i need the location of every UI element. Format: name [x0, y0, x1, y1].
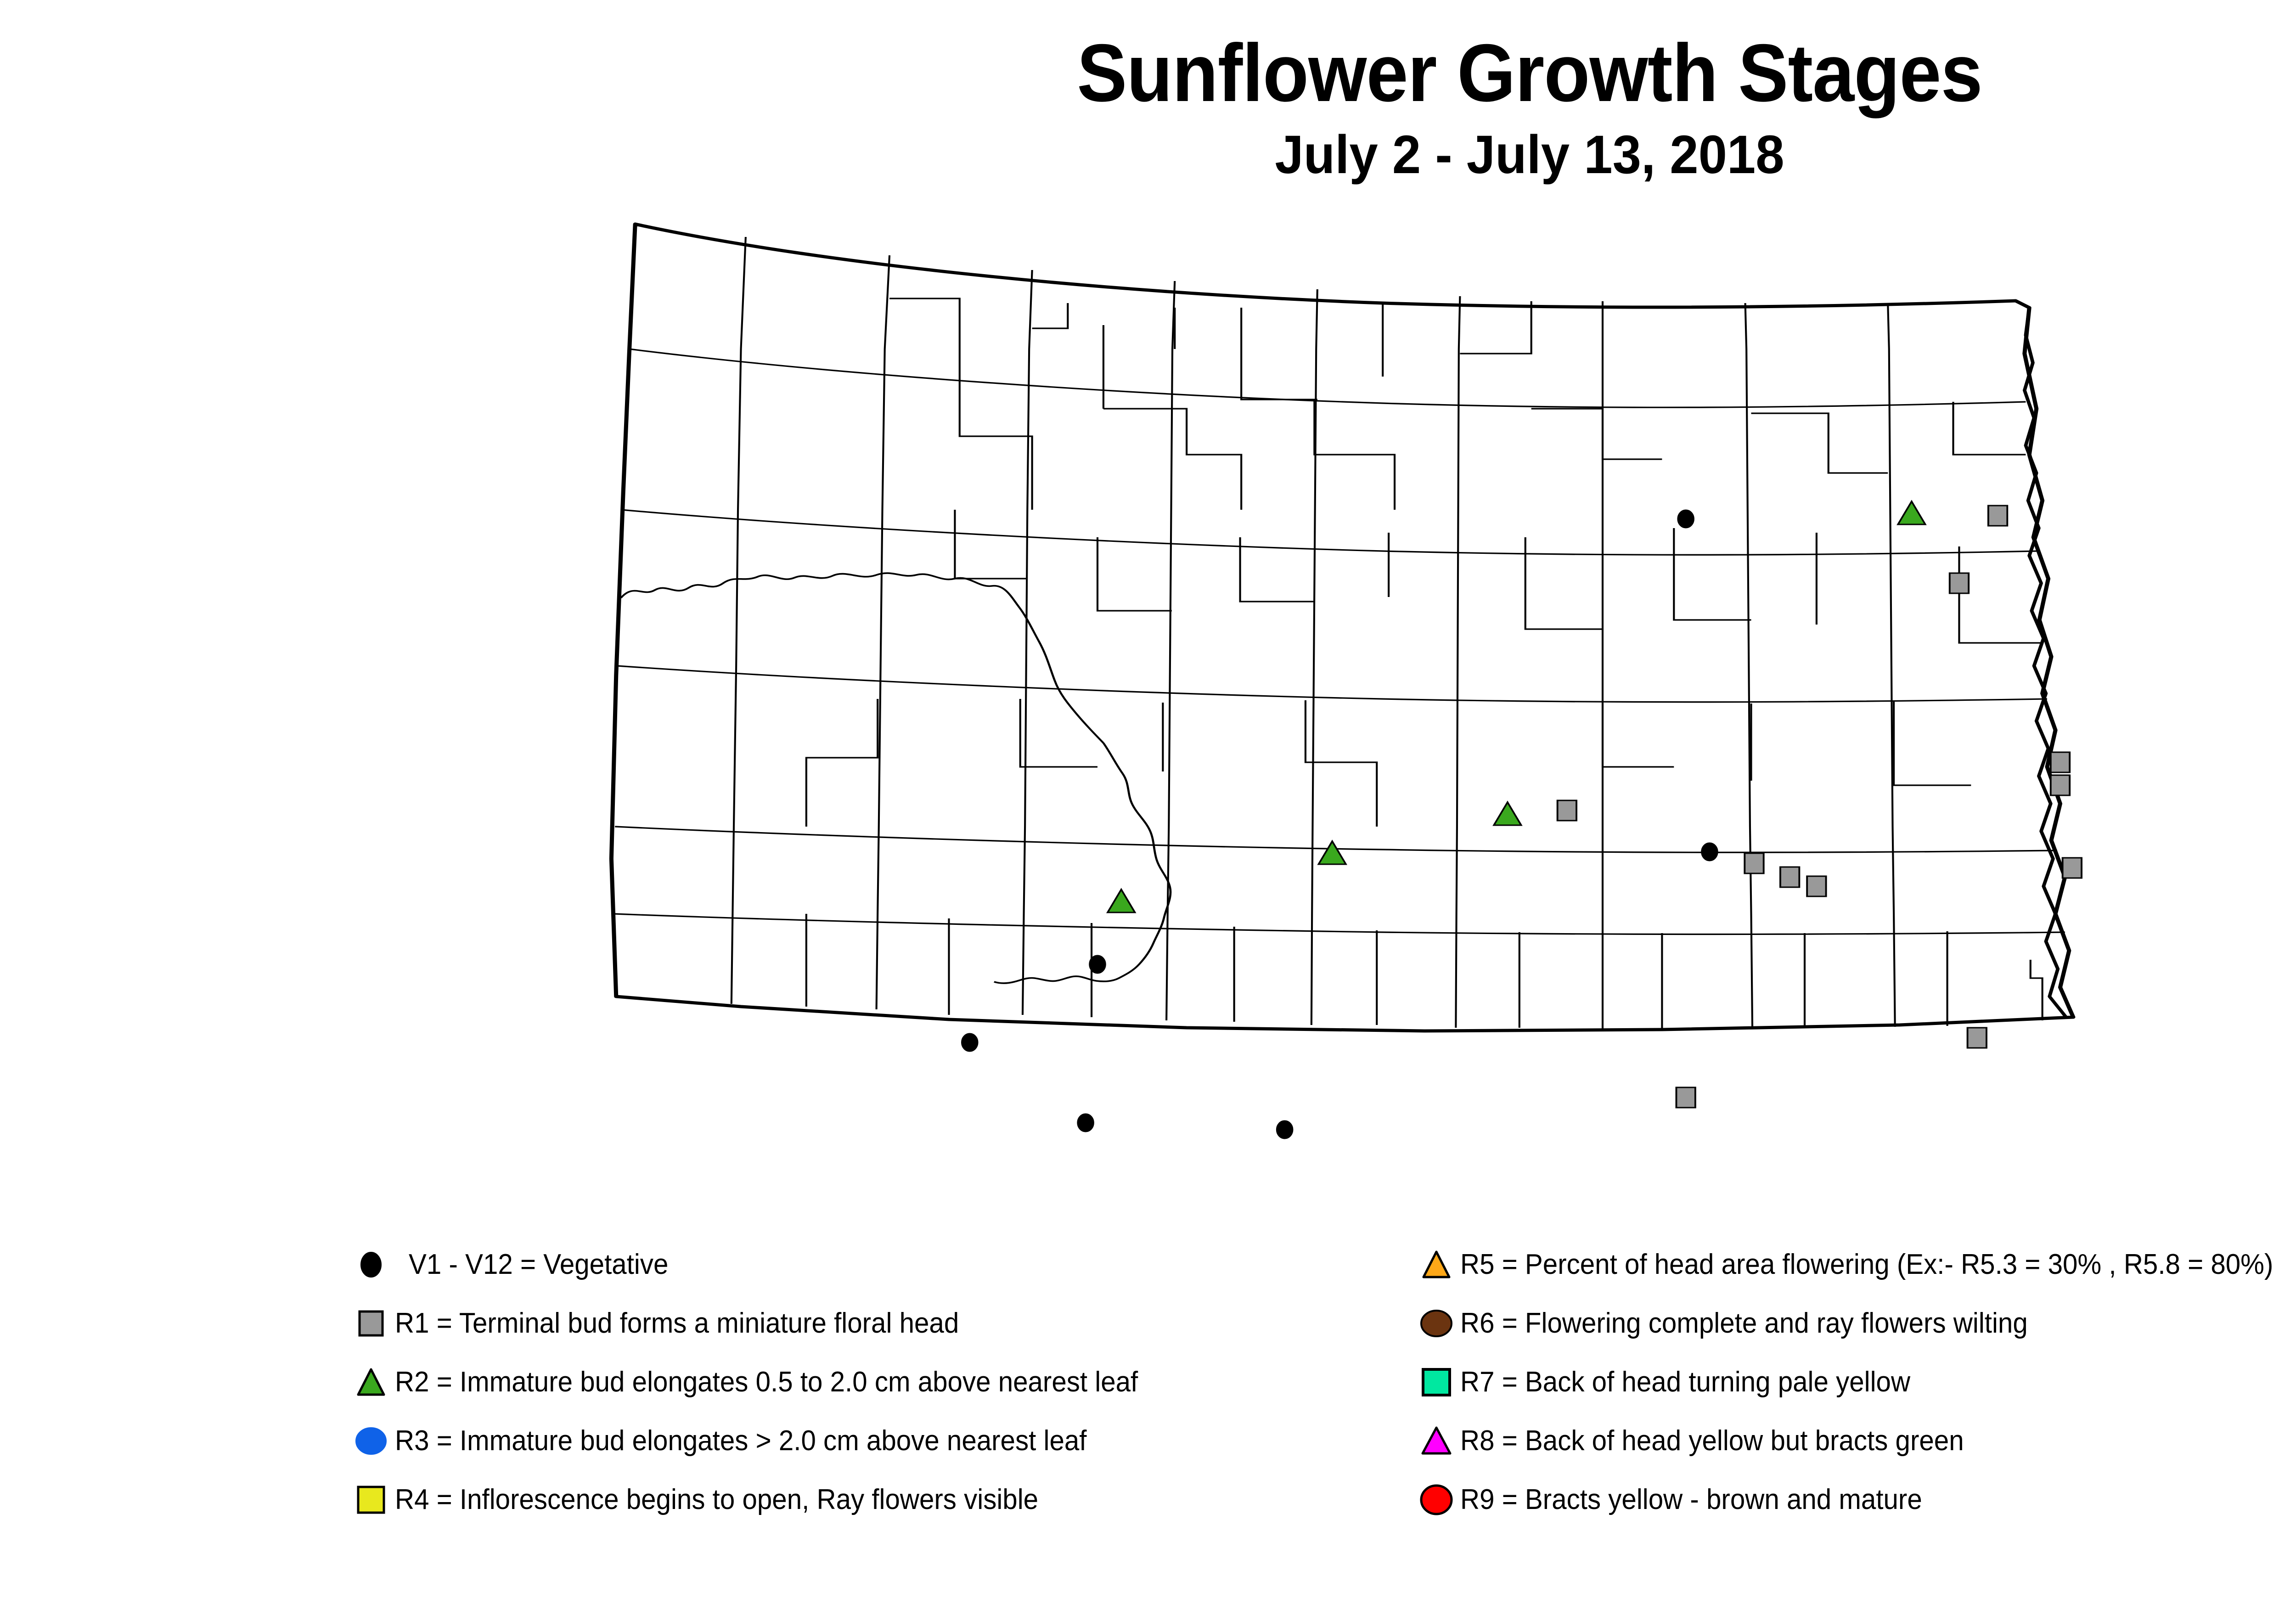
triangle-icon-r2 — [349, 1357, 393, 1407]
map-marker-r1 — [1558, 800, 1576, 821]
legend-item-r3: R3 = Immature bud elongates > 2.0 cm abo… — [349, 1412, 1451, 1470]
legend-label-r4: R4 = Inflorescence begins to open, Ray f… — [395, 1486, 1038, 1514]
ellipse-icon-r6 — [1414, 1298, 1458, 1349]
legend-label-r9: R9 = Bracts yellow - brown and mature — [1460, 1486, 1922, 1514]
page-subtitle: July 2 - July 13, 2018 — [77, 128, 2296, 182]
legend-label-r6: R6 = Flowering complete and ray flowers … — [1460, 1309, 2028, 1338]
map-marker-r1 — [1745, 853, 1763, 873]
triangle-icon-r8 — [1414, 1416, 1458, 1466]
north-dakota-county-map — [592, 216, 2209, 1199]
legend-item-r4: R4 = Inflorescence begins to open, Ray f… — [349, 1470, 1451, 1529]
legend-label-r7: R7 = Back of head turning pale yellow — [1460, 1368, 1910, 1396]
square-icon-r4 — [349, 1475, 393, 1525]
map-marker-v — [1277, 1121, 1293, 1138]
map-marker-r1 — [1676, 1087, 1695, 1108]
legend-item-r2: R2 = Immature bud elongates 0.5 to 2.0 c… — [349, 1353, 1451, 1412]
square-icon-r7 — [1414, 1357, 1458, 1407]
map-marker-r1 — [1968, 1028, 1986, 1048]
legend-item-r8: R8 = Back of head yellow but bracts gree… — [1414, 1412, 2296, 1470]
map-marker-r1 — [1780, 867, 1799, 887]
map-marker-r1 — [1988, 506, 2007, 526]
legend-right-column: R5 = Percent of head area flowering (Ex:… — [1414, 1235, 2296, 1529]
map-marker-r1 — [1807, 876, 1826, 896]
map-marker-r1 — [1950, 573, 1969, 593]
ellipse-icon-r9 — [1414, 1475, 1458, 1525]
map-marker-r1 — [2063, 858, 2082, 878]
legend-item-v: V1 - V12 = Vegetative — [349, 1235, 1451, 1294]
map-marker-r1 — [2051, 775, 2070, 795]
legend-label-r5: R5 = Percent of head area flowering (Ex:… — [1460, 1250, 2273, 1279]
legend-item-r6: R6 = Flowering complete and ray flowers … — [1414, 1294, 2296, 1353]
triangle-icon-r5 — [1414, 1239, 1458, 1290]
map-marker-v — [1090, 956, 1105, 973]
legend-item-r7: R7 = Back of head turning pale yellow — [1414, 1353, 2296, 1412]
legend-label-r3: R3 = Immature bud elongates > 2.0 cm abo… — [395, 1427, 1086, 1455]
legend-item-r1: R1 = Terminal bud forms a miniature flor… — [349, 1294, 1451, 1353]
map-marker-r1 — [2051, 752, 2070, 772]
legend-left-column: V1 - V12 = Vegetative R1 = Terminal bud … — [349, 1235, 1451, 1529]
title-block: Sunflower Growth Stages July 2 - July 13… — [0, 32, 2296, 182]
ellipse-icon-v — [349, 1239, 393, 1290]
page-title: Sunflower Growth Stages — [122, 32, 2296, 114]
legend-label-v: V1 - V12 = Vegetative — [409, 1250, 668, 1279]
state-outline — [611, 224, 2073, 1031]
legend-item-r5: R5 = Percent of head area flowering (Ex:… — [1414, 1235, 2296, 1294]
map-svg — [592, 216, 2209, 1199]
legend-item-r9: R9 = Bracts yellow - brown and mature — [1414, 1470, 2296, 1529]
legend-label-r1: R1 = Terminal bud forms a miniature flor… — [395, 1309, 959, 1338]
map-marker-v — [1702, 843, 1717, 861]
square-icon-r1 — [349, 1298, 393, 1349]
legend-label-r8: R8 = Back of head yellow but bracts gree… — [1460, 1427, 1964, 1455]
legend-label-r2: R2 = Immature bud elongates 0.5 to 2.0 c… — [395, 1368, 1138, 1396]
map-marker-v — [1078, 1114, 1093, 1132]
map-marker-v — [962, 1034, 978, 1051]
ellipse-icon-r3 — [349, 1416, 393, 1466]
map-marker-v — [1678, 510, 1694, 528]
legend: V1 - V12 = Vegetative R1 = Terminal bud … — [0, 1235, 2296, 1557]
